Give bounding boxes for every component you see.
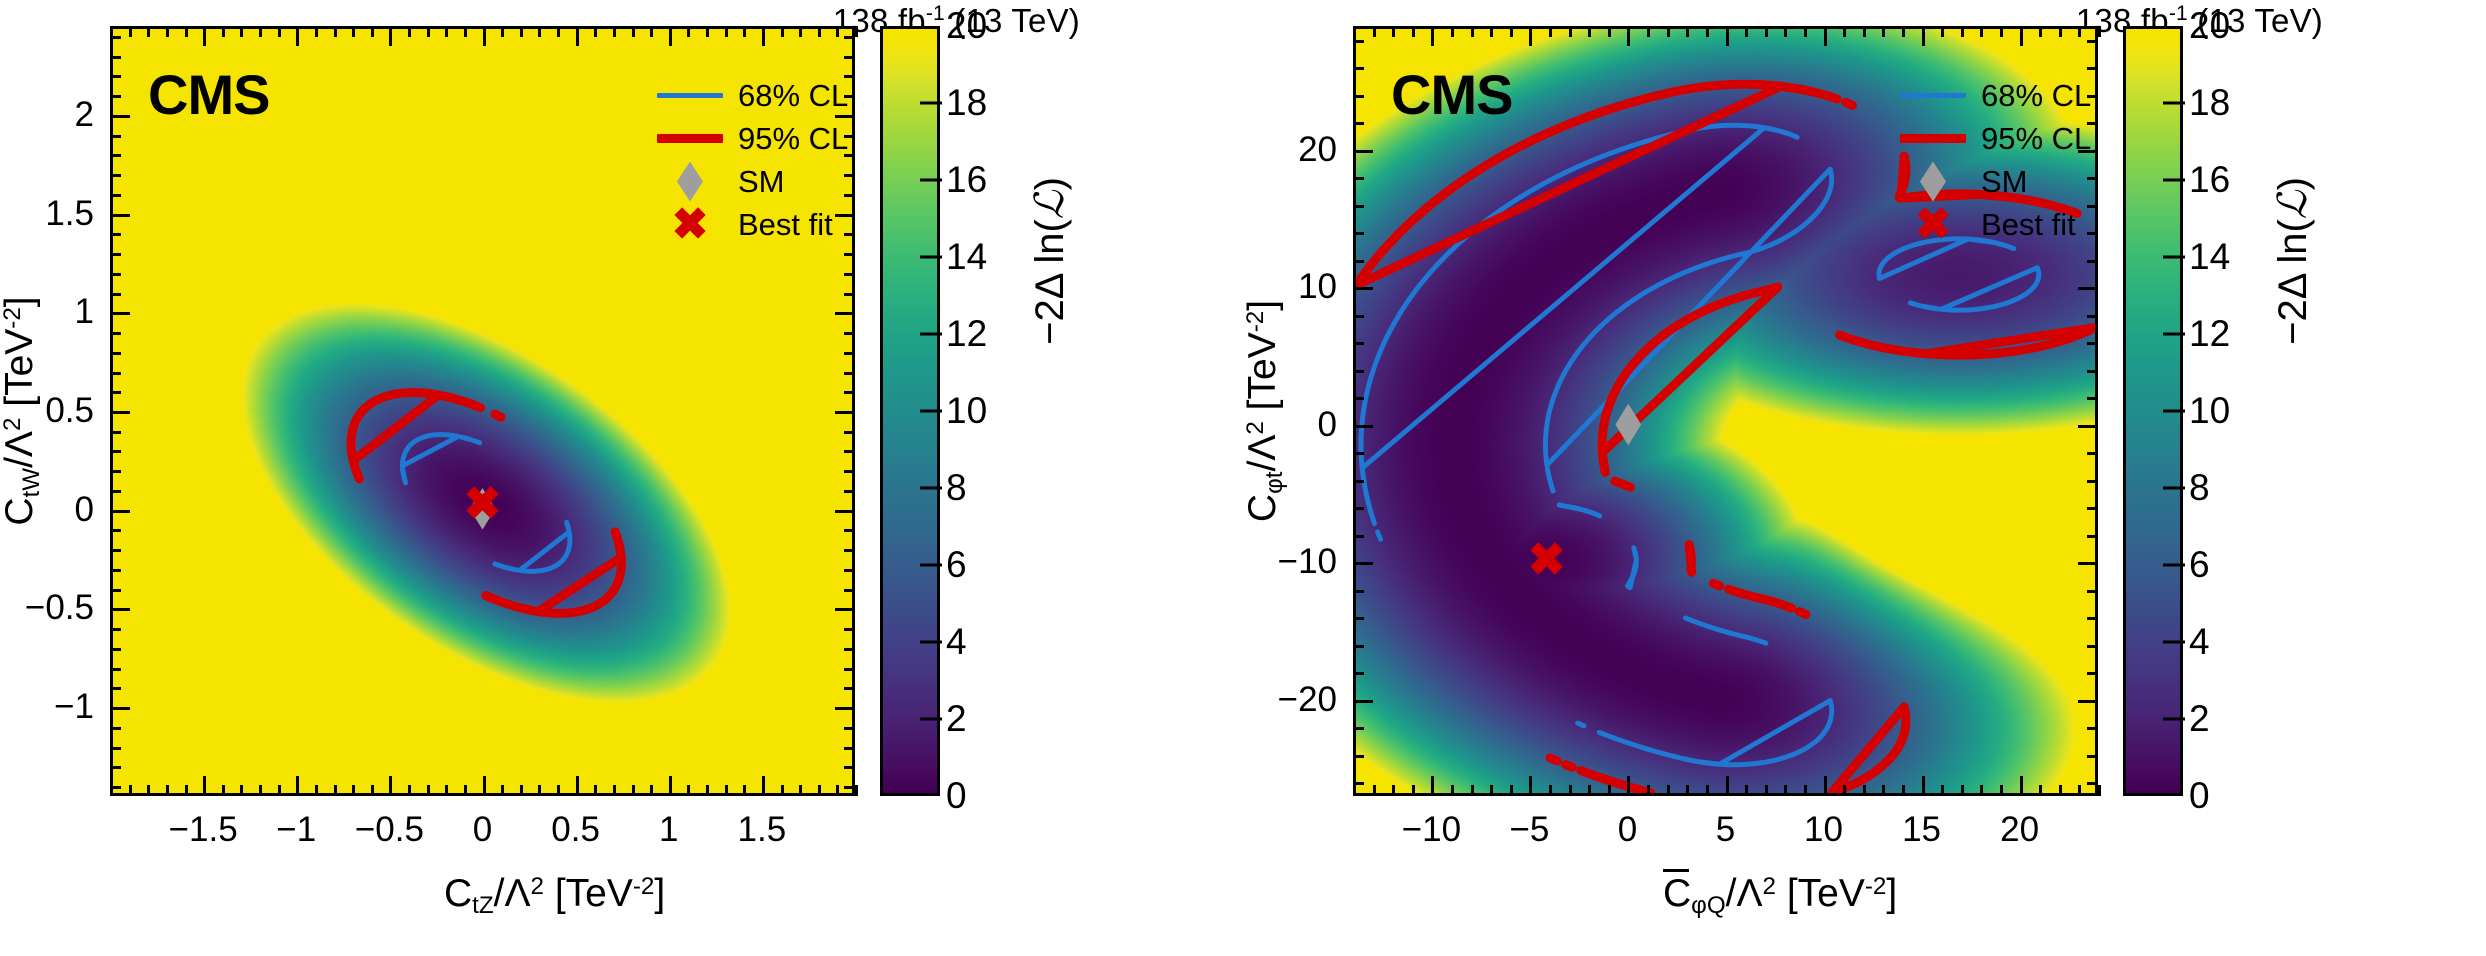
y-minor-tick-right (2087, 95, 2098, 98)
y-minor-tick (110, 174, 121, 177)
x-minor-tick-top (427, 26, 430, 37)
colorbar-tick-label: 18 (946, 82, 987, 124)
y-minor-tick (110, 727, 121, 730)
colorbar-tick-label: 8 (2189, 467, 2210, 509)
y-major-tick-right (835, 214, 855, 217)
cms-label-left: CMS (148, 62, 269, 127)
y-major-tick-right (835, 115, 855, 118)
cl95-line-icon (1891, 134, 1975, 143)
contour-68cl (402, 435, 458, 466)
y-minor-tick (110, 56, 121, 59)
x-minor-tick (1569, 785, 1572, 796)
x-minor-tick (408, 785, 411, 796)
y-minor-tick-right (844, 569, 855, 572)
x-tick-label: 1 (659, 810, 678, 850)
contour-68cl (1618, 739, 1625, 742)
x-minor-tick-top (147, 26, 150, 37)
x-minor-tick-top (408, 26, 411, 37)
contour-68cl (461, 437, 471, 440)
x-minor-tick-top (1667, 26, 1670, 37)
y-major-tick-right (835, 312, 855, 315)
y-major-tick-right (2078, 425, 2098, 428)
x-minor-tick-top (1510, 26, 1513, 37)
contour-95cl (1729, 589, 1738, 592)
y-minor-tick (110, 154, 121, 157)
x-major-tick-top (296, 26, 299, 46)
legend-label: Best fit (1975, 207, 2076, 243)
x-minor-tick-top (2000, 26, 2003, 37)
y-major-tick (110, 115, 130, 118)
x-major-tick-top (389, 26, 392, 46)
x-minor-tick (836, 785, 839, 796)
y-minor-tick (1353, 232, 1364, 235)
y-minor-tick-right (844, 470, 855, 473)
y-minor-tick-right (844, 786, 855, 789)
y-minor-tick (1353, 260, 1364, 263)
x-minor-tick (1882, 785, 1885, 796)
x-major-tick (483, 776, 486, 796)
y-minor-tick-right (844, 154, 855, 157)
x-minor-tick-top (259, 26, 262, 37)
contour-95cl (1603, 455, 1606, 472)
y-minor-tick-right (844, 174, 855, 177)
y-minor-tick-right (844, 529, 855, 532)
colorbar-tick-label: 16 (946, 159, 987, 201)
x-minor-tick-top (445, 26, 448, 37)
x-minor-tick-top (1588, 26, 1591, 37)
y-minor-tick-right (844, 391, 855, 394)
y-minor-tick-right (844, 95, 855, 98)
x-major-tick-top (762, 26, 765, 46)
x-major-tick (2020, 776, 2023, 796)
x-minor-tick (147, 785, 150, 796)
contour-68cl (1713, 628, 1721, 630)
y-minor-tick-right (2087, 507, 2098, 510)
y-minor-tick (1353, 452, 1364, 455)
y-minor-tick-right (2087, 205, 2098, 208)
x-minor-tick-top (1490, 26, 1493, 37)
cl68-line-icon (648, 93, 732, 98)
y-minor-tick-right (844, 668, 855, 671)
x-minor-tick (371, 785, 374, 796)
x-minor-tick (743, 785, 746, 796)
y-minor-tick (110, 766, 121, 769)
x-minor-tick-top (1843, 26, 1846, 37)
x-tick-label: −5 (1509, 810, 1549, 850)
colorbar-title-right: −2Δ ln(ℒ) (2270, 177, 2316, 345)
y-minor-tick-right (844, 372, 855, 375)
x-minor-tick (1490, 785, 1493, 796)
y-minor-tick-right (844, 293, 855, 296)
y-minor-tick-right (844, 431, 855, 434)
y-minor-tick (1353, 672, 1364, 675)
x-minor-tick-top (222, 26, 225, 37)
x-minor-tick (1706, 785, 1709, 796)
x-major-tick (1627, 776, 1630, 796)
y-minor-tick (110, 648, 121, 651)
x-tick-label: 20 (2000, 810, 2039, 850)
y-major-tick-right (2078, 700, 2098, 703)
contour-68cl (1627, 743, 1634, 745)
colorbar-tick (920, 256, 942, 259)
x-tick-label: 0 (1618, 810, 1637, 850)
colorbar-tick-label: 12 (946, 313, 987, 355)
contour-68cl (1682, 758, 1694, 760)
contour-95cl (1581, 771, 1589, 774)
y-minor-tick (110, 628, 121, 631)
x-minor-tick-top (129, 26, 132, 37)
y-tick-label: −20 (1278, 680, 1337, 720)
x-major-tick (1922, 776, 1925, 796)
x-major-tick (1431, 776, 1434, 796)
y-minor-tick-right (844, 747, 855, 750)
y-minor-tick (110, 529, 121, 532)
y-minor-tick (110, 372, 121, 375)
y-minor-tick (110, 786, 121, 789)
x-minor-tick (1510, 785, 1513, 796)
x-minor-tick (2039, 785, 2042, 796)
y-major-tick-right (2078, 287, 2098, 290)
legend-label: 95% CL (1975, 121, 2091, 157)
x-minor-tick-top (1745, 26, 1748, 37)
x-minor-tick-top (687, 26, 690, 37)
x-minor-tick-top (1706, 26, 1709, 37)
x-minor-tick-top (1392, 26, 1395, 37)
x-minor-tick-top (799, 26, 802, 37)
x-minor-tick-top (1471, 26, 1474, 37)
colorbar-tick-label: 4 (946, 621, 967, 663)
x-minor-tick (1412, 785, 1415, 796)
x-minor-tick-top (464, 26, 467, 37)
x-minor-tick (222, 785, 225, 796)
y-tick-label: 0 (1318, 405, 1337, 445)
x-minor-tick (1549, 785, 1552, 796)
x-minor-tick (2098, 785, 2101, 796)
contour-68cl (1366, 490, 1369, 502)
x-minor-tick (278, 785, 281, 796)
contour-68cl (1361, 125, 1764, 468)
contour-68cl (1547, 468, 1550, 480)
x-minor-tick (185, 785, 188, 796)
y-minor-tick (110, 293, 121, 296)
x-tick-label: 15 (1902, 810, 1941, 850)
x-major-tick-top (1627, 26, 1630, 46)
colorbar-tick-label: 4 (2189, 621, 2210, 663)
x-minor-tick-top (2098, 26, 2101, 37)
contour-68cl (1923, 306, 1939, 309)
legend-label: 68% CL (732, 78, 848, 114)
y-minor-tick (110, 668, 121, 671)
x-minor-tick-top (1647, 26, 1650, 37)
contour-95cl (1781, 86, 1802, 89)
x-minor-tick-top (1980, 26, 1983, 37)
x-minor-tick (166, 785, 169, 796)
colorbar-tick (920, 410, 942, 413)
y-minor-tick-right (844, 352, 855, 355)
y-minor-tick (110, 253, 121, 256)
contour-68cl (1766, 128, 1779, 131)
y-major-tick (1353, 700, 1373, 703)
y-minor-tick (110, 687, 121, 690)
colorbar-tick (2163, 410, 2185, 413)
contour-68cl (1759, 641, 1766, 643)
x-minor-tick (334, 785, 337, 796)
colorbar-tick-label: 10 (946, 390, 987, 432)
x-minor-tick-top (1353, 26, 1356, 37)
y-minor-tick (110, 450, 121, 453)
colorbar-tick-label: 20 (946, 5, 987, 47)
y-major-tick-right (835, 411, 855, 414)
contour-95cl (1615, 481, 1623, 484)
y-minor-tick-right (2087, 672, 2098, 675)
x-axis-title-right: CφQ/Λ2 [TeV-2] (1663, 872, 1897, 920)
x-minor-tick-top (1686, 26, 1689, 37)
y-minor-tick-right (2087, 782, 2098, 785)
y-minor-tick-right (2087, 122, 2098, 125)
x-tick-label: 0.5 (551, 810, 600, 850)
panel-left: 138 fb-1 (13 TeV) ✖ CMS 68% CL 95% CL SM… (0, 0, 1243, 956)
cl68-line-icon (1891, 93, 1975, 98)
contour-68cl (1645, 749, 1655, 752)
x-minor-tick-top (185, 26, 188, 37)
y-minor-tick (110, 75, 121, 78)
x-minor-tick (2000, 785, 2003, 796)
x-minor-tick-top (2059, 26, 2062, 37)
x-minor-tick (1980, 785, 1983, 796)
x-minor-tick-top (725, 26, 728, 37)
x-tick-label: −10 (1402, 810, 1461, 850)
y-major-tick (1353, 425, 1373, 428)
x-minor-tick (1608, 785, 1611, 796)
colorbar-tick-label: 8 (946, 467, 967, 509)
x-minor-tick (1863, 785, 1866, 796)
x-minor-tick-top (334, 26, 337, 37)
colorbar-tick-label: 16 (2189, 159, 2230, 201)
x-minor-tick (2059, 785, 2062, 796)
y-minor-tick-right (2087, 260, 2098, 263)
best-fit-marker: ✖ (1527, 534, 1565, 585)
x-minor-tick-top (1804, 26, 1807, 37)
contour-68cl (1781, 131, 1789, 134)
x-minor-tick (1745, 785, 1748, 796)
y-minor-tick (1353, 507, 1364, 510)
colorbar-tick (920, 102, 942, 105)
contour-68cl (1704, 625, 1711, 627)
y-minor-tick-right (2087, 645, 2098, 648)
contour-68cl (1658, 752, 1667, 754)
x-minor-tick (1588, 785, 1591, 796)
x-tick-label: −1 (276, 810, 316, 850)
y-axis-title-right: Cφt/Λ2 [TeV-2] (1241, 300, 1289, 522)
x-minor-tick (632, 785, 635, 796)
colorbar-tick-label: 2 (946, 698, 967, 740)
y-minor-tick (1353, 315, 1364, 318)
contour-68cl (1722, 631, 1732, 634)
x-minor-tick-top (1961, 26, 1964, 37)
y-minor-tick (1353, 480, 1364, 483)
y-tick-label: −1 (54, 687, 94, 727)
x-minor-tick (1686, 785, 1689, 796)
x-major-tick (203, 776, 206, 796)
y-major-tick (110, 411, 130, 414)
x-minor-tick (799, 785, 802, 796)
contour-95cl (495, 414, 501, 417)
x-minor-tick (501, 785, 504, 796)
x-minor-tick (1941, 785, 1944, 796)
cms-label-right: CMS (1391, 62, 1512, 127)
x-minor-tick-top (315, 26, 318, 37)
x-major-tick-top (1431, 26, 1434, 46)
colorbar-tick (2163, 641, 2185, 644)
contour-68cl (1559, 505, 1566, 507)
y-minor-tick-right (2087, 315, 2098, 318)
y-minor-tick-right (2087, 370, 2098, 373)
y-minor-tick (1353, 535, 1364, 538)
colorbar-tick-label: 12 (2189, 313, 2230, 355)
y-minor-tick-right (2087, 397, 2098, 400)
y-tick-label: −10 (1278, 542, 1337, 582)
contour-95cl (351, 393, 438, 461)
x-tick-label: 0 (473, 810, 492, 850)
x-minor-tick-top (706, 26, 709, 37)
x-minor-tick-top (650, 26, 653, 37)
y-minor-tick (110, 194, 121, 197)
figure-canvas: 138 fb-1 (13 TeV) ✖ CMS 68% CL 95% CL SM… (0, 0, 2486, 956)
contour-68cl (1584, 510, 1592, 513)
colorbar-tick (2163, 102, 2185, 105)
y-minor-tick-right (844, 549, 855, 552)
y-tick-label: 2 (75, 95, 94, 135)
x-minor-tick-top (632, 26, 635, 37)
colorbar-tick (2163, 564, 2185, 567)
y-minor-tick-right (844, 332, 855, 335)
y-minor-tick (1353, 40, 1364, 43)
x-minor-tick-top (2078, 26, 2081, 37)
x-minor-tick-top (781, 26, 784, 37)
x-minor-tick-top (557, 26, 560, 37)
x-minor-tick (352, 785, 355, 796)
x-minor-tick (1373, 785, 1376, 796)
y-minor-tick-right (2087, 452, 2098, 455)
x-minor-tick-top (501, 26, 504, 37)
panel-right: 138 fb-1 (13 TeV) ✖ CMS 68% CL 95% CL SM… (1243, 0, 2486, 956)
x-major-tick (1824, 776, 1827, 796)
y-minor-tick (1353, 122, 1364, 125)
y-major-tick (110, 707, 130, 710)
x-minor-tick (2078, 785, 2081, 796)
y-minor-tick-right (2087, 67, 2098, 70)
contour-68cl (1695, 761, 1718, 764)
y-minor-tick (110, 549, 121, 552)
colorbar-ticks-right: 02468101214161820 (2123, 26, 2273, 796)
x-tick-label: 1.5 (738, 810, 787, 850)
legend-label: Best fit (732, 207, 833, 243)
contour-95cl (486, 595, 493, 598)
x-minor-tick-top (1569, 26, 1572, 37)
colorbar-tick-label: 14 (2189, 236, 2230, 278)
x-tick-label: −1.5 (169, 810, 238, 850)
x-minor-tick (855, 785, 858, 796)
y-tick-label: 0.5 (45, 391, 94, 431)
colorbar-tick (2163, 718, 2185, 721)
y-minor-tick (1353, 67, 1364, 70)
x-major-tick (1726, 776, 1729, 796)
x-minor-tick-top (520, 26, 523, 37)
colorbar-tick (920, 718, 942, 721)
contour-68cl (1628, 560, 1637, 587)
y-minor-tick (1353, 645, 1364, 648)
contour-68cl (1735, 634, 1746, 637)
contour-68cl (504, 567, 517, 570)
contour-68cl (567, 522, 569, 529)
y-major-tick-right (2078, 562, 2098, 565)
y-tick-label: 20 (1298, 130, 1337, 170)
y-minor-tick-right (2087, 177, 2098, 180)
x-major-tick-top (1529, 26, 1532, 46)
colorbar-tick-label: 14 (946, 236, 987, 278)
x-major-tick (1529, 776, 1532, 796)
x-minor-tick (594, 785, 597, 796)
colorbar-tick (2163, 487, 2185, 490)
y-minor-tick (1353, 205, 1364, 208)
y-minor-tick (110, 589, 121, 592)
contour-95cl (615, 532, 618, 541)
x-minor-tick (1804, 785, 1807, 796)
x-minor-tick (1961, 785, 1964, 796)
x-minor-tick (687, 785, 690, 796)
y-minor-tick-right (2087, 342, 2098, 345)
colorbar-tick (920, 179, 942, 182)
x-minor-tick-top (2039, 26, 2042, 37)
x-minor-tick (1451, 785, 1454, 796)
y-minor-tick-right (2087, 617, 2098, 620)
x-minor-tick-top (594, 26, 597, 37)
contour-95cl (1901, 351, 1924, 354)
x-minor-tick (464, 785, 467, 796)
y-major-tick (1353, 562, 1373, 565)
y-major-tick (1353, 287, 1373, 290)
y-minor-tick (110, 95, 121, 98)
y-minor-tick (1353, 370, 1364, 373)
y-minor-tick-right (844, 648, 855, 651)
x-minor-tick-top (1941, 26, 1944, 37)
x-minor-tick (1902, 785, 1905, 796)
y-tick-label: 0 (75, 490, 94, 530)
y-major-tick (1353, 150, 1373, 153)
x-minor-tick-top (1882, 26, 1885, 37)
contour-95cl (1799, 612, 1806, 615)
colorbar-tick (2163, 333, 2185, 336)
contour-68cl (519, 532, 569, 571)
y-minor-tick-right (844, 766, 855, 769)
colorbar-tick-label: 6 (2189, 544, 2210, 586)
contour-68cl (1685, 618, 1693, 621)
x-minor-tick (1784, 785, 1787, 796)
x-major-tick-top (2020, 26, 2023, 46)
contour-68cl (1568, 507, 1582, 510)
best-fit-marker: ✖ (463, 478, 501, 529)
contour-95cl (1689, 545, 1692, 573)
colorbar-tick-label: 10 (2189, 390, 2230, 432)
x-minor-tick-top (743, 26, 746, 37)
y-minor-tick-right (844, 233, 855, 236)
x-tick-label: 10 (1804, 810, 1843, 850)
y-minor-tick-right (844, 589, 855, 592)
x-minor-tick (725, 785, 728, 796)
diamond-icon (648, 162, 732, 202)
y-axis-title-wrap-left: CtW/Λ2 [TeV-2] (0, 26, 52, 796)
y-minor-tick-right (844, 450, 855, 453)
